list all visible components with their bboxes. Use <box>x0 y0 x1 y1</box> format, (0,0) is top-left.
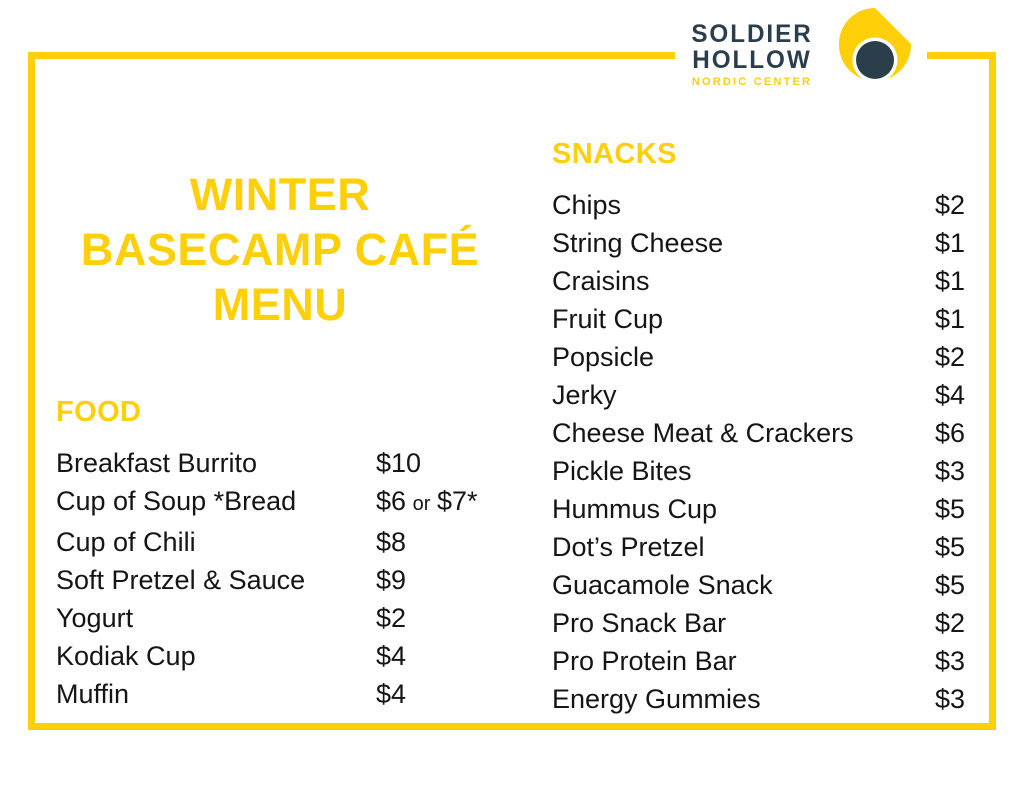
menu-item-name: Energy Gummies <box>552 680 935 718</box>
menu-item-price: $4 <box>376 637 506 675</box>
menu-item-row: Muffin$4 <box>56 675 506 713</box>
menu-item-name: Cup of Chili <box>56 523 376 561</box>
menu-item-row: Breakfast Burrito$10 <box>56 444 506 482</box>
menu-item-name: Craisins <box>552 262 935 300</box>
menu-item-price: $4 <box>935 376 995 414</box>
menu-item-price-secondary: $7* <box>437 486 478 516</box>
menu-item-price: $5 <box>935 528 995 566</box>
menu-item-row: Craisins$1 <box>552 262 972 300</box>
menu-item-name: Chips <box>552 186 935 224</box>
menu-item-row: Yogurt$2 <box>56 599 506 637</box>
menu-item-row: Energy Gummies$3 <box>552 680 972 718</box>
menu-item-name: Pro Snack Bar <box>552 604 935 642</box>
menu-item-price: $1 <box>935 300 995 338</box>
menu-item-price: $9 <box>376 561 506 599</box>
menu-item-row: Pickle Bites$3 <box>552 452 972 490</box>
menu-section-food: FOOD Breakfast Burrito$10Cup of Soup *Br… <box>56 396 506 713</box>
menu-item-row: Fruit Cup$1 <box>552 300 972 338</box>
menu-item-name: Dot’s Pretzel <box>552 528 935 566</box>
menu-item-price: $8 <box>376 523 506 561</box>
menu-item-row: Cup of Soup *Bread$6 or $7* <box>56 482 506 523</box>
menu-item-name: String Cheese <box>552 224 935 262</box>
page-title: WINTER BASECAMP CAFÉ MENU <box>40 168 520 333</box>
menu-item-row: Cheese Meat & Crackers$6 <box>552 414 972 452</box>
menu-item-price: $1 <box>935 224 995 262</box>
menu-item-price: $5 <box>935 566 995 604</box>
logo-wordmark-line-1: SOLDIER <box>680 22 824 48</box>
logo-wordmark-line-2: HOLLOW <box>680 48 824 74</box>
menu-item-price: $3 <box>935 452 995 490</box>
menu-item-price: $5 <box>935 490 995 528</box>
water-drop-icon <box>823 5 927 109</box>
menu-item-row: Chips$2 <box>552 186 972 224</box>
section-heading-food: FOOD <box>56 396 506 429</box>
menu-item-price-primary: $6 <box>376 486 406 516</box>
menu-item-row: Guacamole Snack$5 <box>552 566 972 604</box>
menu-item-price: $4 <box>376 675 506 713</box>
menu-item-row: Pro Protein Bar$3 <box>552 642 972 680</box>
menu-item-name: Fruit Cup <box>552 300 935 338</box>
menu-item-price: $6 or $7* <box>376 482 506 523</box>
menu-item-name: Cheese Meat & Crackers <box>552 414 935 452</box>
page-title-line-3: MENU <box>40 278 520 333</box>
menu-item-price: $6 <box>935 414 995 452</box>
logo-tagline: NORDIC CENTER <box>678 76 826 88</box>
menu-item-name: Hummus Cup <box>552 490 935 528</box>
menu-section-snacks: SNACKS Chips$2String Cheese$1Craisins$1F… <box>552 138 972 718</box>
menu-item-name: Jerky <box>552 376 935 414</box>
menu-item-row: Dot’s Pretzel$5 <box>552 528 972 566</box>
menu-item-row: Pro Snack Bar$2 <box>552 604 972 642</box>
logo-wordmark: SOLDIER HOLLOW <box>678 22 826 73</box>
page-title-line-1: WINTER <box>40 168 520 223</box>
menu-item-name: Guacamole Snack <box>552 566 935 604</box>
menu-item-name: Muffin <box>56 675 376 713</box>
menu-item-name: Popsicle <box>552 338 935 376</box>
menu-item-row: Cup of Chili$8 <box>56 523 506 561</box>
menu-item-row: Soft Pretzel & Sauce$9 <box>56 561 506 599</box>
menu-item-name: Pro Protein Bar <box>552 642 935 680</box>
menu-item-row: Popsicle$2 <box>552 338 972 376</box>
menu-item-price: $3 <box>935 680 995 718</box>
menu-item-row: Hummus Cup$5 <box>552 490 972 528</box>
page-title-line-2: BASECAMP CAFÉ <box>40 223 520 278</box>
menu-item-price: $1 <box>935 262 995 300</box>
menu-item-name: Breakfast Burrito <box>56 444 376 482</box>
menu-item-price: $10 <box>376 444 506 482</box>
menu-item-price: $2 <box>935 338 995 376</box>
menu-item-price: $2 <box>376 599 506 637</box>
menu-item-name: Soft Pretzel & Sauce <box>56 561 376 599</box>
menu-item-name: Pickle Bites <box>552 452 935 490</box>
menu-item-price-conjunction: or <box>406 493 437 515</box>
menu-item-row: Kodiak Cup$4 <box>56 637 506 675</box>
menu-list-food: Breakfast Burrito$10Cup of Soup *Bread$6… <box>56 444 506 713</box>
menu-item-row: Jerky$4 <box>552 376 972 414</box>
menu-poster: SOLDIER HOLLOW NORDIC CENTER WINTER BASE… <box>0 0 1024 791</box>
menu-item-name: Yogurt <box>56 599 376 637</box>
menu-item-price: $3 <box>935 642 995 680</box>
menu-item-price: $2 <box>935 604 995 642</box>
menu-list-snacks: Chips$2String Cheese$1Craisins$1Fruit Cu… <box>552 186 972 718</box>
menu-item-name: Cup of Soup *Bread <box>56 482 376 520</box>
menu-item-row: String Cheese$1 <box>552 224 972 262</box>
section-heading-snacks: SNACKS <box>552 138 972 171</box>
menu-item-name: Kodiak Cup <box>56 637 376 675</box>
brand-logo: SOLDIER HOLLOW NORDIC CENTER <box>675 0 927 112</box>
menu-item-price: $2 <box>935 186 995 224</box>
